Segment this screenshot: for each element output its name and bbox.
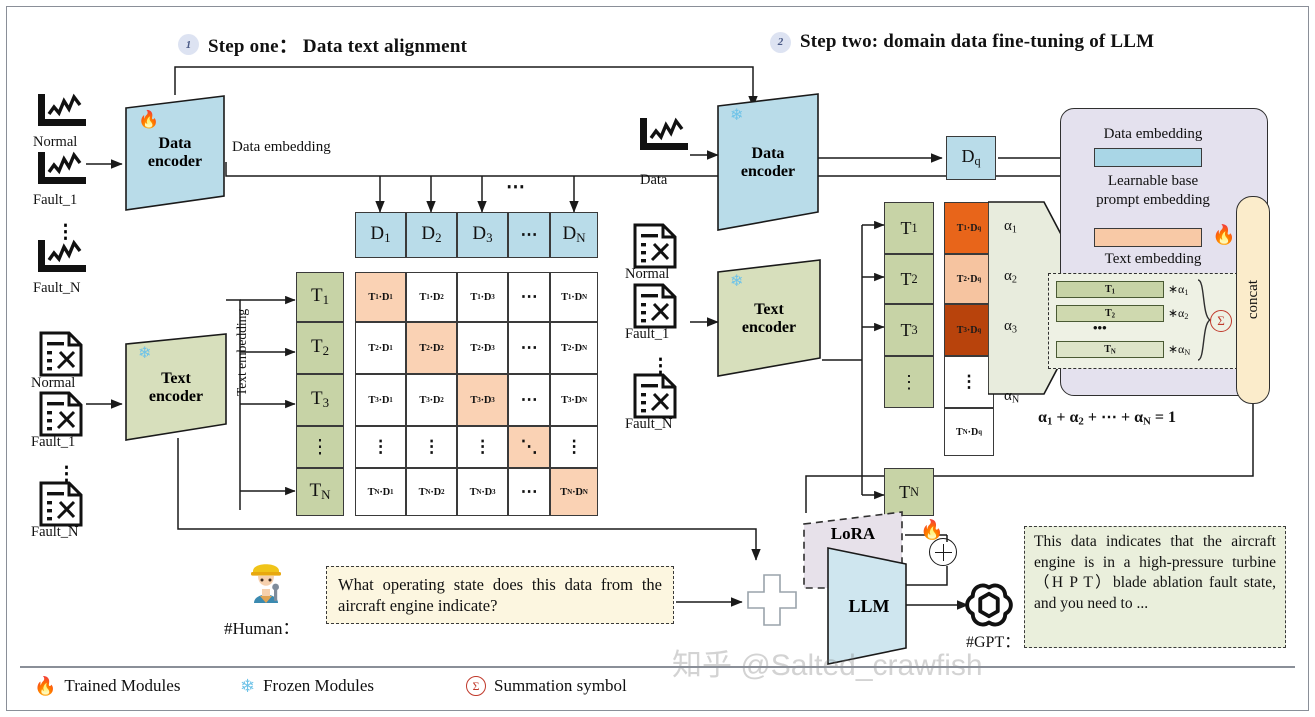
alpha-label-1: α1: [1004, 218, 1017, 236]
t-cell-3: T3: [296, 374, 344, 426]
concat-label: concat: [1245, 280, 1262, 319]
flame-icon: 🔥: [1212, 226, 1236, 245]
llm-label: LLM: [830, 596, 908, 617]
alpha-label-2: α2: [1004, 268, 1017, 286]
legend-label-trained: Trained Modules: [64, 676, 180, 696]
learnable-title-line1: Learnable base: [1060, 173, 1246, 190]
d-cell-2: D2: [406, 212, 457, 258]
text-embedding-bar-2: T2: [1056, 305, 1164, 322]
dq-box: Dq: [946, 136, 996, 180]
matrix-cell-2-5: T2·DN: [550, 322, 598, 374]
alpha-label-5: αN: [1004, 388, 1019, 406]
circled-plus-icon: [929, 538, 957, 566]
alpha-label-3: α3: [1004, 318, 1017, 336]
waveform-icon: [34, 150, 90, 194]
matrix-cell-1-3: T1·D3: [457, 272, 508, 322]
text-embedding-bar-n: TN: [1056, 341, 1164, 358]
d-cell-1: D1: [355, 212, 406, 258]
data-embedding-bar: [1094, 148, 1202, 167]
text-input-label-3: Fault_N: [31, 524, 79, 541]
data-input-label-2: Fault_1: [33, 192, 77, 209]
waveform-icon: [636, 116, 692, 160]
matrix-cell-4-4: ⋱: [508, 426, 550, 468]
matrix-cell-4-2: ⋮: [406, 426, 457, 468]
document-wrench-icon: [36, 390, 88, 438]
legend-label-frozen: Frozen Modules: [263, 676, 374, 696]
text-embedding-bar-dots: •••: [1093, 320, 1107, 336]
data-embedding-label: Data embedding: [232, 139, 331, 156]
matrix-cell-5-5: TN·DN: [550, 468, 598, 516]
t-cell-2: T2: [296, 322, 344, 374]
matrix-cell-4-1: ⋮: [355, 426, 406, 468]
gpt-answer-box: This data indicates that the aircraft en…: [1024, 526, 1286, 648]
matrix-cell-3-4: ⋯: [508, 374, 550, 426]
step2-doc-dots: ⋮: [651, 362, 670, 372]
d-row-ellipsis: ⋯: [506, 176, 525, 199]
waveform-icon: [34, 92, 90, 136]
text-encoder-step2[interactable]: Text encoder ❄: [714, 258, 824, 380]
human-tag: #Human：: [224, 614, 300, 639]
flame-icon: 🔥: [138, 111, 159, 128]
matrix-cell-3-3: T3·D3: [457, 374, 508, 426]
snowflake-icon: ❄: [730, 108, 743, 124]
step2-t-cell-5: TN: [884, 468, 934, 516]
step2-doc-label-2: Fault_1: [625, 326, 669, 343]
circled-sigma-icon: Σ: [466, 676, 486, 696]
matrix-cell-3-1: T3·D1: [355, 374, 406, 426]
text-input-dots: ⋮: [57, 470, 76, 480]
sim-cell-3: T3·Dq: [944, 304, 994, 356]
data-input-label-3: Fault_N: [33, 280, 81, 297]
circled-sigma-icon: Σ: [1210, 310, 1232, 332]
worker-avatar-icon: [246, 556, 286, 609]
step2-t-cell-2: T2: [884, 254, 934, 304]
waveform-icon: [34, 238, 90, 282]
matrix-cell-1-4: ⋯: [508, 272, 550, 322]
matrix-cell-2-4: ⋯: [508, 322, 550, 374]
weight-label-1: ∗α1: [1168, 282, 1188, 297]
human-prompt-box[interactable]: What operating state does this data from…: [326, 566, 674, 624]
data-input-label-1: Normal: [33, 134, 77, 151]
sim-cell-2: T2·Dq: [944, 254, 994, 304]
document-wrench-icon: [36, 330, 88, 378]
document-wrench-icon: [630, 282, 682, 330]
matrix-cell-1-1: T1·D1: [355, 272, 406, 322]
sim-cell-1: T1·Dq: [944, 202, 994, 254]
d-cell-3: D3: [457, 212, 508, 258]
step2-t-cell-4: ⋮: [884, 356, 934, 408]
text-embedding-label: Text embedding: [234, 288, 250, 396]
data-input-dots: ⋮: [56, 228, 75, 238]
legend-item-trained: 🔥 Trained Modules: [34, 676, 180, 696]
weight-label-2: ∗α2: [1168, 306, 1188, 321]
matrix-cell-3-5: T3·DN: [550, 374, 598, 426]
data-embedding-title: Data embedding: [1060, 126, 1246, 143]
step2-doc-label-1: Normal: [625, 266, 669, 283]
matrix-cell-5-4: ⋯: [508, 468, 550, 516]
d-cell-ellipsis: ⋯: [508, 212, 550, 258]
t-cell-n: TN: [296, 468, 344, 516]
matrix-cell-4-5: ⋮: [550, 426, 598, 468]
document-wrench-icon: [36, 480, 88, 528]
t-cell-1: T1: [296, 272, 344, 322]
step2-data-label: Data: [640, 172, 667, 189]
text-embedding-title: Text embedding: [1060, 251, 1246, 268]
matrix-cell-4-3: ⋮: [457, 426, 508, 468]
document-wrench-icon: [630, 372, 682, 420]
snowflake-icon: ❄: [138, 346, 151, 362]
flame-icon: 🔥: [34, 677, 56, 695]
sim-cell-5: TN·Dq: [944, 408, 994, 456]
text-input-label-2: Fault_1: [31, 434, 75, 451]
document-wrench-icon: [630, 222, 682, 270]
snowflake-icon: ❄: [730, 274, 743, 290]
step2-t-cell-3: T3: [884, 304, 934, 356]
data-encoder-step1[interactable]: Data encoder 🔥: [122, 92, 228, 214]
learnable-title-line2: prompt embedding: [1060, 192, 1246, 209]
data-encoder-step2[interactable]: Data encoder ❄: [714, 92, 822, 234]
step2-waveform-group: [636, 116, 692, 165]
concat-block: concat: [1236, 196, 1270, 404]
diagram-root: 1 Step one： Data text alignment 2 Step t…: [0, 0, 1315, 717]
openai-logo-icon: [964, 580, 1014, 635]
weight-label-n: ∗αN: [1168, 342, 1190, 357]
snowflake-icon: ❄: [240, 677, 255, 695]
plus-icon: [746, 572, 798, 628]
matrix-cell-5-3: TN·D3: [457, 468, 508, 516]
d-cell-n: DN: [550, 212, 598, 258]
matrix-cell-5-2: TN·D2: [406, 468, 457, 516]
llm-block[interactable]: LLM: [824, 542, 928, 670]
matrix-cell-3-2: T3·D2: [406, 374, 457, 426]
alpha-equation: α1 + α2 + ⋯ + αN = 1: [1038, 407, 1176, 428]
legend-item-sum: Σ Summation symbol: [466, 676, 627, 696]
matrix-cell-1-5: T1·DN: [550, 272, 598, 322]
prompt-embedding-bar: [1094, 228, 1202, 247]
legend-divider: [20, 666, 1295, 668]
legend-label-sum: Summation symbol: [494, 676, 627, 696]
step2-t-cell-1: T1: [884, 202, 934, 254]
matrix-cell-2-1: T2·D1: [355, 322, 406, 374]
matrix-cell-2-3: T2·D3: [457, 322, 508, 374]
gpt-tag: #GPT：: [966, 628, 1020, 652]
text-embedding-bar-1: T1: [1056, 281, 1164, 298]
legend-item-frozen: ❄ Frozen Modules: [240, 676, 374, 696]
sim-cell-4: ⋮: [944, 356, 994, 408]
matrix-cell-1-2: T1·D2: [406, 272, 457, 322]
lora-label: LoRA: [800, 524, 906, 544]
step2-doc-label-3: Fault_N: [625, 416, 673, 433]
t-cell-ellipsis: ⋮: [296, 426, 344, 468]
matrix-cell-5-1: TN·D1: [355, 468, 406, 516]
text-encoder-step1[interactable]: Text encoder ❄: [122, 332, 230, 444]
matrix-cell-2-2: T2·D2: [406, 322, 457, 374]
